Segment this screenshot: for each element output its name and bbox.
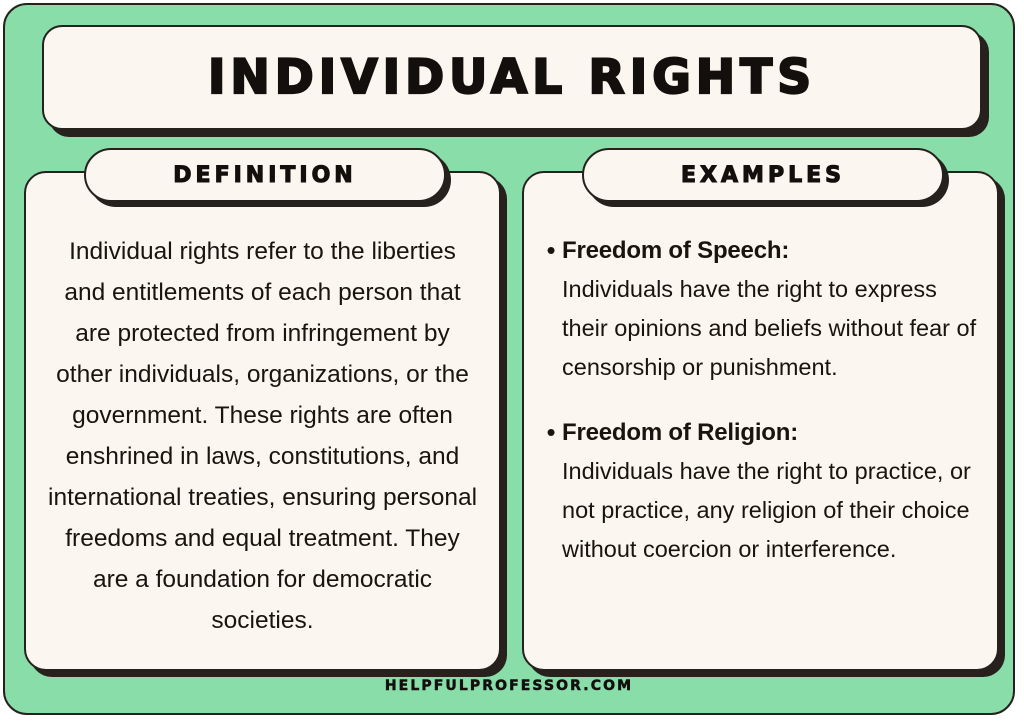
examples-card: EXAMPLES • Freedom of Speech: Individual…: [522, 171, 999, 671]
examples-header-pill: EXAMPLES: [582, 148, 944, 202]
list-item-content: Freedom of Speech: Individuals have the …: [562, 231, 981, 387]
page-title: INDIVIDUAL RIGHTS: [208, 50, 816, 105]
list-item-content: Freedom of Religion: Individuals have th…: [562, 413, 981, 569]
title-card: INDIVIDUAL RIGHTS: [42, 25, 982, 130]
list-item-term: Freedom of Speech:: [562, 231, 981, 270]
examples-list: • Freedom of Speech: Individuals have th…: [540, 231, 981, 595]
definition-header-pill: DEFINITION: [84, 148, 446, 202]
bullet-icon: •: [540, 231, 562, 270]
list-item-description: Individuals have the right to practice, …: [562, 458, 971, 562]
definition-body-text: Individual rights refer to the liberties…: [48, 231, 477, 641]
list-item: • Freedom of Speech: Individuals have th…: [540, 231, 981, 387]
list-item: • Freedom of Religion: Individuals have …: [540, 413, 981, 569]
examples-pill-label: EXAMPLES: [681, 163, 845, 188]
list-item-description: Individuals have the right to express th…: [562, 276, 976, 380]
footer: HELPFULPROFESSOR.COM: [5, 677, 1013, 695]
definition-card: DEFINITION Individual rights refer to th…: [24, 171, 501, 671]
poster-panel: INDIVIDUAL RIGHTS DEFINITION Individual …: [3, 3, 1015, 715]
definition-pill-label: DEFINITION: [173, 163, 356, 188]
site-attribution: HELPFULPROFESSOR.COM: [385, 678, 633, 694]
list-item-term: Freedom of Religion:: [562, 413, 981, 452]
bullet-icon: •: [540, 413, 562, 452]
